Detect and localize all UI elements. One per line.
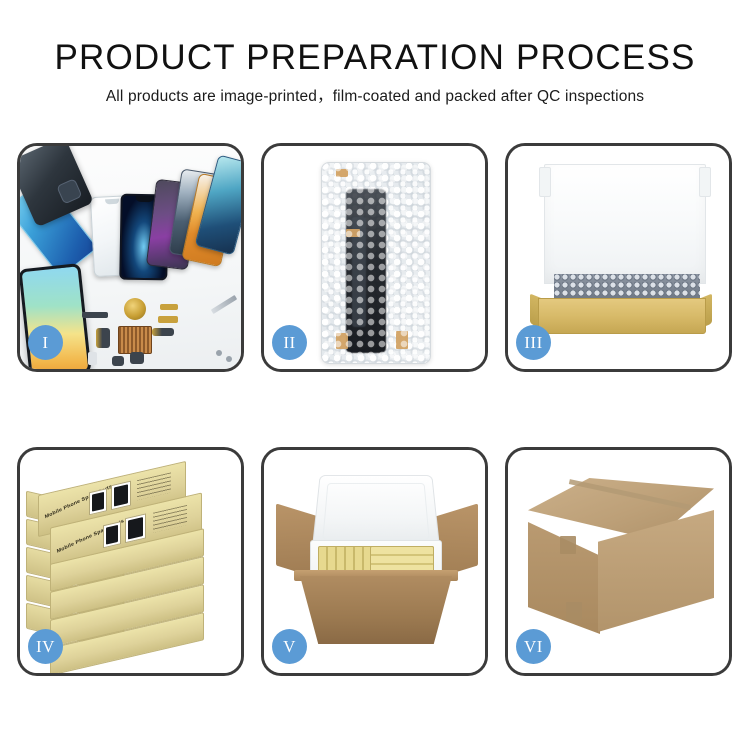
part-speaker-coil xyxy=(124,298,146,320)
tape-bottom-left xyxy=(336,333,348,349)
bubble-wrap-bag xyxy=(321,162,431,364)
header: PRODUCT PREPARATION PROCESS All products… xyxy=(0,38,750,107)
box-thumbnail-b-second xyxy=(125,513,146,543)
step-badge-4: IV xyxy=(28,629,63,664)
process-step-card-4: Mobile Phone Spare Parts Mobile Phone Sp… xyxy=(17,447,244,676)
box-thumbnail-a-second xyxy=(103,521,121,548)
part-screw-b xyxy=(226,356,232,362)
step-badge-5: V xyxy=(272,629,307,664)
tape-middle xyxy=(346,229,360,237)
process-step-card-3: III xyxy=(505,143,732,372)
phone-back-housing xyxy=(20,146,94,227)
part-small-screw-set xyxy=(88,352,97,365)
carton-body xyxy=(300,576,452,644)
part-flex-cable-b xyxy=(152,328,174,336)
part-vibrator-motor xyxy=(130,352,144,364)
part-connector-strip xyxy=(82,312,108,318)
part-gold-bracket-b xyxy=(158,316,178,323)
foam-box-lid xyxy=(312,475,440,550)
part-flex-cable-a xyxy=(96,328,110,348)
box-bubble-fill xyxy=(554,274,700,300)
box-spec-lines-second xyxy=(153,505,187,533)
box-kraft-front xyxy=(538,298,706,334)
carton-tab-upper xyxy=(560,536,576,554)
box-white-lid xyxy=(544,164,706,284)
process-step-card-6: VI xyxy=(505,447,732,676)
step-badge-1: I xyxy=(28,325,63,360)
part-camera-module xyxy=(112,356,124,366)
product-preparation-infographic: PRODUCT PREPARATION PROCESS All products… xyxy=(0,0,750,750)
tape-bottom-right xyxy=(396,331,408,349)
page-subtitle: All products are image-printed，film-coat… xyxy=(0,87,750,107)
part-gold-bracket-a xyxy=(160,304,178,310)
process-step-card-1: I xyxy=(17,143,244,372)
part-screw-a xyxy=(216,350,222,356)
part-chip-grid xyxy=(118,326,152,354)
tape-top xyxy=(336,169,348,177)
step-badge-3: III xyxy=(516,325,551,360)
box-thumbnail-b-top xyxy=(111,481,131,511)
step-badge-6: VI xyxy=(516,629,551,664)
box-thumbnail-a-top xyxy=(89,488,107,515)
carton-tab-lower xyxy=(566,602,582,620)
process-step-card-2: II xyxy=(261,143,488,372)
step-badge-2: II xyxy=(272,325,307,360)
box-spec-lines-top xyxy=(137,472,171,500)
wrapped-lcd-screen xyxy=(346,189,386,353)
process-step-grid: I II xyxy=(17,143,733,676)
process-step-card-5: V xyxy=(261,447,488,676)
page-title: PRODUCT PREPARATION PROCESS xyxy=(0,38,750,78)
part-tweezers-tool xyxy=(211,295,237,314)
